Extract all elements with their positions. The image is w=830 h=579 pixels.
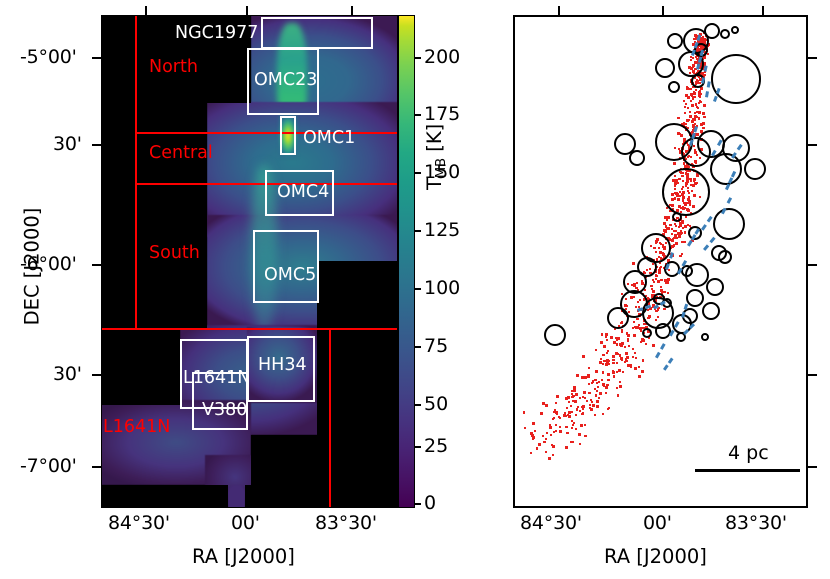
left-xtick-1: [351, 6, 353, 15]
yso-point: [680, 230, 682, 232]
yso-point: [571, 393, 573, 395]
region-box-ngc1977[interactable]: [261, 17, 373, 49]
filament-segment: [663, 358, 673, 371]
yso-point: [688, 119, 690, 121]
yso-point: [684, 231, 686, 233]
yso-point: [586, 400, 588, 402]
yso-point: [566, 407, 568, 409]
yso-point: [548, 457, 551, 460]
cbar-label-125: 125: [424, 219, 460, 241]
region-label-ngc1977: NGC1977: [175, 23, 258, 43]
yso-point: [616, 362, 618, 364]
yso-point: [555, 411, 558, 414]
yso-point: [606, 384, 608, 386]
yso-point: [579, 443, 581, 445]
clump-circle[interactable]: [744, 158, 766, 180]
yso-point: [672, 238, 674, 240]
yso-point: [590, 408, 593, 411]
yso-point: [612, 362, 614, 364]
scale-bar-label: 4 pc: [728, 442, 769, 464]
yso-point: [549, 424, 551, 426]
yso-point: [619, 385, 622, 388]
yso-point: [606, 339, 608, 341]
yso-point: [653, 281, 655, 283]
yso-point: [703, 116, 705, 118]
clump-circle[interactable]: [655, 323, 671, 339]
yso-point: [650, 285, 652, 287]
yso-point: [685, 216, 687, 218]
clump-circle[interactable]: [701, 333, 709, 341]
yso-point: [619, 381, 621, 383]
yso-point: [658, 272, 660, 274]
region-divider-vertical-east: [329, 328, 331, 508]
yso-point: [632, 262, 635, 265]
clump-circle[interactable]: [672, 212, 682, 222]
yso-point: [532, 436, 535, 439]
cbar-tick-100: [415, 288, 421, 290]
yso-point: [624, 346, 626, 348]
yso-point: [559, 430, 562, 433]
yso-point: [555, 424, 557, 426]
yso-point: [619, 354, 621, 356]
yso-point: [565, 426, 567, 428]
yso-point: [540, 412, 543, 415]
yso-point: [610, 336, 613, 339]
clump-circle[interactable]: [710, 153, 742, 185]
yso-point: [606, 362, 608, 364]
yso-point: [575, 393, 578, 396]
yso-point: [591, 382, 593, 384]
yso-point: [605, 364, 607, 366]
yso-point: [698, 117, 700, 119]
region-label-central: Central: [149, 143, 213, 163]
yso-point: [621, 329, 623, 331]
yso-point: [595, 349, 597, 351]
yso-point: [699, 96, 701, 98]
clump-circle[interactable]: [702, 302, 720, 320]
footprint-mask-left: [101, 103, 207, 230]
left-xaxis-label: RA [J2000]: [192, 545, 295, 568]
left-xtick-label-2: 83°30': [315, 512, 377, 534]
yso-point: [534, 430, 536, 432]
left-ytick-label-3: 30': [53, 363, 82, 385]
yso-point: [603, 345, 606, 348]
clump-circle[interactable]: [706, 278, 724, 296]
yso-point: [689, 111, 691, 113]
yso-point: [683, 100, 685, 102]
yso-point: [638, 366, 640, 368]
yso-point: [659, 269, 661, 271]
yso-point: [571, 396, 573, 398]
yso-point: [660, 279, 662, 281]
clump-circle[interactable]: [713, 208, 745, 240]
yso-point: [589, 392, 591, 394]
yso-point: [666, 281, 669, 284]
cbar-tick-150: [415, 172, 421, 174]
yso-point: [696, 116, 698, 118]
yso-point: [552, 454, 554, 456]
region-label-omc4: OMC4: [277, 182, 329, 202]
region-label-hh34: HH34: [258, 355, 307, 375]
yso-point: [602, 363, 604, 365]
yso-point: [685, 103, 687, 105]
yso-point: [684, 106, 686, 108]
yso-point: [572, 441, 574, 443]
yso-point: [530, 452, 532, 454]
yso-point: [667, 292, 669, 294]
yso-point: [550, 434, 552, 436]
yso-point: [666, 219, 668, 221]
yso-point: [524, 427, 526, 429]
yso-point: [552, 445, 555, 448]
left-ytick-label-4: -7°00': [20, 455, 77, 477]
yso-point: [685, 94, 688, 97]
yso-point: [570, 405, 572, 407]
yso-point: [607, 373, 610, 376]
clump-circle[interactable]: [718, 250, 732, 264]
yso-point: [663, 291, 665, 293]
clump-circle[interactable]: [686, 289, 704, 307]
clump-circle[interactable]: [711, 54, 761, 104]
yso-point: [594, 379, 596, 381]
yso-point: [700, 93, 702, 95]
yso-point: [632, 348, 634, 350]
clump-circle[interactable]: [629, 150, 645, 166]
clump-circle[interactable]: [544, 324, 566, 346]
yso-point: [567, 396, 570, 399]
yso-point: [643, 323, 645, 325]
region-box-omc1[interactable]: [280, 116, 296, 155]
yso-point: [667, 227, 670, 230]
yso-point: [545, 404, 548, 407]
yso-point: [671, 233, 673, 235]
yso-point: [641, 370, 644, 373]
yso-point: [617, 337, 620, 340]
clump-circle[interactable]: [704, 23, 720, 39]
yso-point: [579, 410, 581, 412]
cbar-label-25: 25: [424, 435, 448, 457]
cbar-label-75: 75: [424, 335, 448, 357]
yso-point: [574, 400, 577, 403]
left-yaxis-label: DEC [J2000]: [21, 187, 44, 347]
region-label-omc23: OMC23: [254, 70, 317, 90]
yso-point: [599, 392, 602, 395]
yso-point: [642, 339, 645, 342]
yso-point: [549, 426, 552, 429]
yso-point: [566, 432, 568, 434]
yso-point: [673, 230, 675, 232]
yso-point: [689, 115, 692, 118]
yso-point: [538, 443, 541, 446]
yso-point: [698, 111, 701, 114]
cbar-tick-25: [415, 446, 421, 448]
yso-point: [626, 356, 629, 359]
filament-segment: [705, 81, 711, 97]
yso-point: [523, 411, 525, 413]
yso-point: [607, 379, 609, 381]
yso-point: [674, 223, 676, 225]
yso-point: [600, 358, 602, 360]
yso-point: [601, 379, 603, 381]
yso-point: [573, 389, 576, 392]
yso-point: [595, 370, 598, 373]
yso-point: [621, 331, 623, 333]
yso-point: [697, 107, 699, 109]
yso-point: [677, 117, 679, 119]
yso-point: [582, 355, 585, 358]
yso-point: [635, 327, 637, 329]
yso-point: [635, 357, 637, 359]
yso-point: [571, 427, 573, 429]
yso-point: [619, 343, 621, 345]
yso-point: [575, 414, 577, 416]
yso-point: [626, 332, 628, 334]
yso-point: [581, 413, 583, 415]
cbar-label-0: 0: [424, 492, 436, 514]
temperature-map-panel[interactable]: NGC1977 OMC23 OMC1 OMC4 OMC5 L1641N HH34…: [101, 15, 398, 508]
right-ytick-3: [808, 374, 817, 376]
yso-point: [583, 405, 585, 407]
right-xaxis-label: RA [J2000]: [604, 545, 707, 568]
cbar-tick-0: [415, 503, 421, 505]
left-ytick-4: [92, 466, 101, 468]
cbar-label-100: 100: [424, 277, 460, 299]
yso-point: [638, 375, 641, 378]
clump-circle[interactable]: [731, 26, 739, 34]
yso-point: [597, 386, 599, 388]
cbar-tick-125: [415, 230, 421, 232]
yso-point: [576, 408, 578, 410]
yso-point: [545, 451, 547, 453]
right-ytick-1: [808, 144, 817, 146]
yso-point: [660, 289, 663, 292]
yso-point: [592, 404, 595, 407]
yso-point: [613, 376, 615, 378]
yso-point: [702, 127, 704, 129]
yso-point: [605, 392, 607, 394]
yso-point: [605, 386, 608, 389]
yso-point: [573, 386, 576, 389]
region-label-l1641n-box: L1641N: [183, 368, 250, 388]
filament-segment: [701, 216, 713, 231]
yso-point: [627, 334, 629, 336]
clump-circle[interactable]: [662, 168, 710, 216]
yso-point: [571, 420, 573, 422]
yso-point: [576, 374, 579, 377]
left-ytick-0: [92, 57, 101, 59]
yso-point: [627, 339, 629, 341]
yso-point: [616, 344, 618, 346]
left-ytick-3: [92, 374, 101, 376]
left-xtick-2: [145, 6, 147, 15]
yso-point: [660, 286, 662, 288]
cbar-tick-75: [415, 346, 421, 348]
yso-point: [624, 361, 626, 363]
yso-point: [555, 402, 557, 404]
yso-point: [677, 232, 680, 235]
yso-point: [681, 241, 683, 243]
right-xtick-2: [762, 6, 764, 15]
yso-point: [594, 388, 596, 390]
cbar-tick-200: [415, 57, 421, 59]
clump-circle[interactable]: [607, 307, 629, 329]
yso-point: [571, 411, 573, 413]
yso-point: [682, 227, 684, 229]
yso-point: [636, 318, 638, 320]
region-label-omc1: OMC1: [303, 128, 355, 148]
yso-point: [568, 401, 570, 403]
yso-point: [633, 321, 635, 323]
clump-circle[interactable]: [642, 328, 652, 338]
yso-point: [589, 404, 591, 406]
region-label-omc5: OMC5: [264, 265, 316, 285]
yso-point: [694, 96, 696, 98]
yso-point: [652, 344, 655, 347]
yso-point: [598, 397, 600, 399]
right-ytick-4: [808, 466, 817, 468]
yso-point: [584, 424, 586, 426]
yso-point: [694, 123, 696, 125]
yso-point: [543, 441, 545, 443]
left-xtick-label-1: 00': [231, 512, 260, 534]
yso-point: [700, 123, 703, 126]
yso-point: [690, 100, 692, 102]
right-xtick-1: [662, 6, 664, 15]
yso-point: [556, 395, 559, 398]
yso-point: [546, 432, 548, 434]
yso-point: [594, 414, 596, 416]
clump-circle[interactable]: [720, 29, 730, 39]
right-xtick-0: [558, 6, 560, 15]
yso-point: [542, 402, 545, 405]
yso-point: [625, 352, 628, 355]
yso-point: [578, 433, 581, 436]
yso-point: [565, 446, 568, 449]
region-label-l1641n: L1641N: [103, 417, 170, 437]
yso-point: [622, 371, 624, 373]
yso-point: [684, 112, 686, 114]
yso-point: [699, 100, 701, 102]
clump-distribution-panel[interactable]: 4 pc: [513, 15, 808, 508]
cloud-emission-stem: [228, 485, 245, 508]
yso-point: [679, 255, 681, 257]
yso-point: [607, 408, 609, 410]
left-ytick-1: [92, 144, 101, 146]
yso-point: [581, 376, 584, 379]
yso-point: [588, 367, 590, 369]
yso-point: [664, 230, 667, 233]
yso-point: [616, 387, 618, 389]
clump-circle[interactable]: [668, 81, 680, 93]
yso-point: [675, 242, 678, 245]
yso-point: [613, 359, 615, 361]
colorbar-label-unit: [K]: [423, 124, 446, 158]
yso-point: [632, 327, 634, 329]
yso-point: [602, 354, 604, 356]
yso-point: [532, 438, 534, 440]
yso-point: [618, 369, 621, 372]
cbar-tick-50: [415, 404, 421, 406]
clump-circle[interactable]: [667, 33, 683, 49]
yso-point: [642, 359, 644, 361]
yso-point: [596, 400, 599, 403]
yso-point: [617, 353, 619, 355]
yso-point: [542, 435, 544, 437]
yso-point: [545, 438, 547, 440]
cbar-label-50: 50: [424, 393, 448, 415]
yso-point: [634, 352, 636, 354]
yso-point: [673, 162, 676, 165]
clump-circle[interactable]: [637, 257, 657, 277]
scale-bar: [695, 469, 800, 472]
yso-point: [588, 383, 590, 385]
region-label-south: South: [149, 243, 200, 263]
yso-point: [617, 394, 619, 396]
yso-point: [606, 352, 608, 354]
yso-point: [702, 112, 705, 115]
yso-point: [652, 279, 654, 281]
yso-point: [605, 336, 607, 338]
yso-point: [620, 357, 623, 360]
yso-point: [559, 426, 561, 428]
yso-point: [652, 290, 655, 293]
yso-point: [684, 241, 686, 243]
yso-point: [633, 334, 636, 337]
yso-point: [579, 397, 581, 399]
yso-point: [567, 414, 569, 416]
region-label-v380: V380: [202, 400, 247, 420]
yso-point: [673, 244, 675, 246]
yso-point: [630, 366, 632, 368]
yso-point: [580, 424, 583, 427]
yso-point: [680, 233, 682, 235]
yso-point: [656, 275, 658, 277]
yso-point: [596, 405, 599, 408]
yso-point: [603, 360, 605, 362]
yso-point: [553, 411, 555, 413]
figure-root: NGC1977 OMC23 OMC1 OMC4 OMC5 L1641N HH34…: [0, 0, 830, 579]
colorbar[interactable]: [398, 15, 415, 508]
right-xtick-label-1: 00': [643, 512, 672, 534]
yso-point: [536, 447, 538, 449]
yso-point: [601, 333, 603, 335]
yso-point: [676, 237, 678, 239]
yso-point: [532, 422, 535, 425]
colorbar-label-sub: MB: [434, 158, 449, 178]
footprint-mask-bottom-strip: [245, 485, 320, 508]
yso-point: [687, 107, 689, 109]
yso-point: [693, 92, 696, 95]
yso-point: [600, 341, 603, 344]
yso-point: [683, 122, 685, 124]
right-xtick-label-0: 84°30': [520, 512, 582, 534]
clump-circle[interactable]: [655, 58, 675, 78]
yso-point: [599, 361, 602, 364]
yso-point: [694, 112, 696, 114]
yso-point: [638, 324, 640, 326]
yso-point: [681, 220, 684, 223]
footprint-mask-right-lower: [317, 261, 398, 331]
region-label-north: North: [149, 57, 198, 77]
yso-point: [582, 396, 584, 398]
colorbar-label-t: T: [423, 178, 446, 190]
left-ytick-label-1: 30': [53, 133, 82, 155]
yso-point: [575, 428, 577, 430]
yso-point: [555, 430, 557, 432]
yso-point: [678, 226, 680, 228]
yso-point: [602, 371, 604, 373]
right-xtick-label-2: 83°30': [725, 512, 787, 534]
